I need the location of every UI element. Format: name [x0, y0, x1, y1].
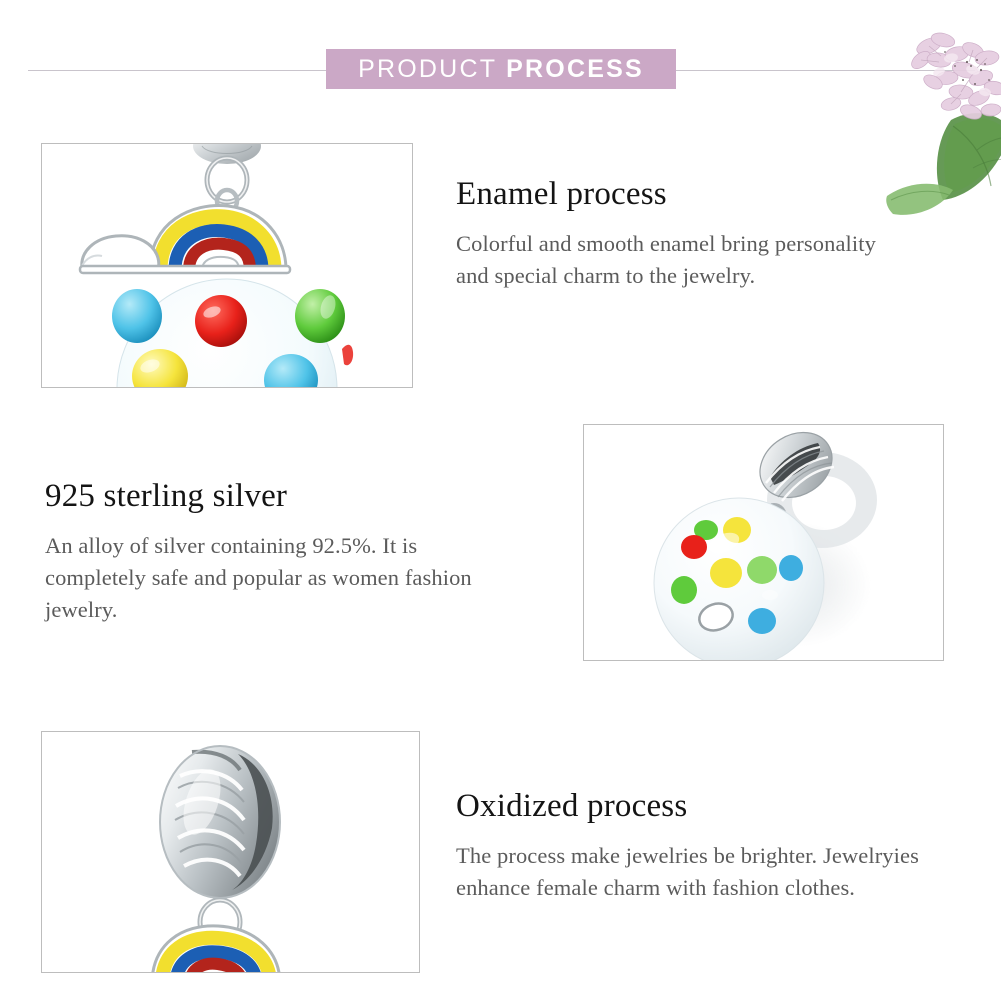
oxidized-twisted-bail-photo[interactable] [41, 731, 420, 973]
oxidized-heading: Oxidized process [456, 788, 946, 824]
header-rule-left [28, 70, 328, 71]
banner-word-process: PROCESS [506, 57, 644, 82]
enamel-heading: Enamel process [456, 176, 886, 212]
section-enamel-text: Enamel process Colorful and smooth ename… [456, 176, 886, 292]
page-title-banner: PRODUCT PROCESS [326, 49, 676, 89]
header-rule-right [676, 70, 975, 71]
oxidized-body: The process make jewelries be brighter. … [456, 840, 946, 904]
product-process-page: PRODUCT PROCESS [0, 0, 1001, 1001]
rainbow-cloud-charm-photo[interactable] [41, 143, 413, 388]
enamel-body: Colorful and smooth enamel bring persona… [456, 228, 886, 292]
banner-word-product: PRODUCT [358, 57, 497, 82]
silver-body: An alloy of silver containing 92.5%. It … [45, 530, 515, 626]
page-header: PRODUCT PROCESS [0, 0, 1001, 110]
silver-heading: 925 sterling silver [45, 478, 515, 514]
s925-stamped-charm-photo[interactable]: S925 [583, 424, 944, 661]
section-silver-text: 925 sterling silver An alloy of silver c… [45, 478, 515, 626]
section-oxidized-text: Oxidized process The process make jewelr… [456, 788, 946, 904]
